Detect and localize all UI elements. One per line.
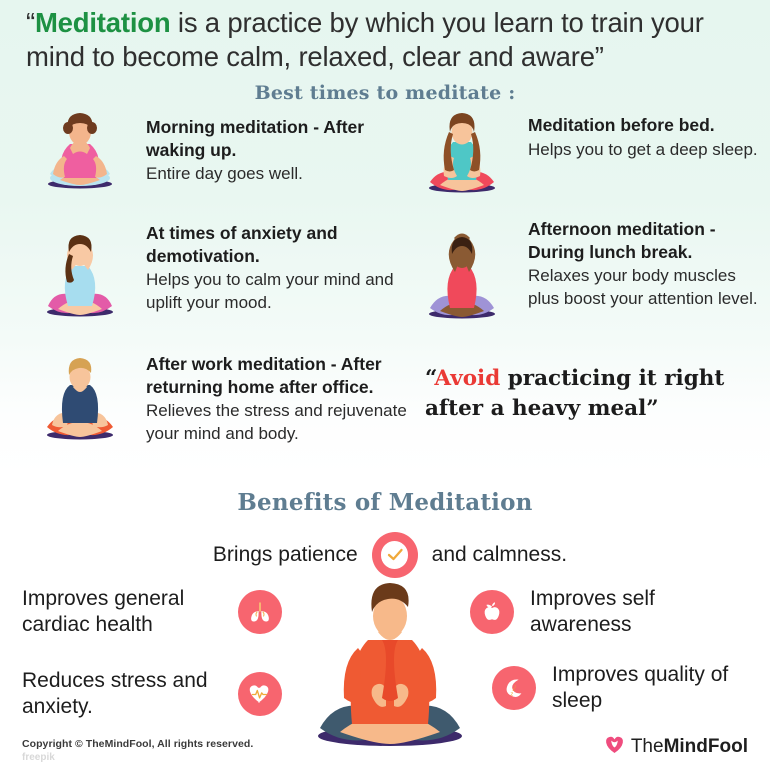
benefit-label: Improves general cardiac health bbox=[22, 586, 222, 638]
list-item: Reduces stress and anxiety. bbox=[22, 668, 322, 720]
list-item-title: After work meditation - After returning … bbox=[146, 353, 416, 398]
lungs-icon bbox=[238, 590, 282, 634]
list-item: z z z Improves quality of sleep bbox=[492, 662, 770, 714]
avoid-quote: “Avoid practicing it right after a heavy… bbox=[425, 364, 755, 424]
heart-pulse-icon bbox=[238, 672, 282, 716]
list-item-body: Entire day goes well. bbox=[146, 163, 398, 186]
man-blue-shirt-lotus-icon bbox=[30, 353, 130, 450]
freepik-watermark: freepik bbox=[22, 752, 55, 763]
benefit-label: Improves self awareness bbox=[530, 586, 730, 638]
woman-hands-above-head-icon bbox=[412, 214, 512, 331]
list-item-text: Morning meditation - After waking up. En… bbox=[146, 116, 398, 186]
check-circle-icon bbox=[372, 532, 418, 578]
brand-name-bold: MindFool bbox=[664, 736, 748, 757]
infographic-poster: “Meditation is a practice by which you l… bbox=[0, 0, 770, 770]
avoid-highlight: Avoid bbox=[434, 366, 500, 391]
headline-open-quote: “ bbox=[26, 7, 35, 38]
list-item-text: After work meditation - After returning … bbox=[146, 353, 416, 445]
svg-text:z: z bbox=[510, 691, 513, 697]
page-title: “Meditation is a practice by which you l… bbox=[26, 6, 752, 74]
list-item: Improves self awareness bbox=[470, 586, 770, 638]
list-item-title: Meditation before bed. bbox=[528, 114, 768, 137]
apple-icon bbox=[470, 590, 514, 634]
benefit-text-after: and calmness. bbox=[432, 542, 567, 568]
list-item-title: At times of anxiety and demotivation. bbox=[146, 222, 404, 267]
list-item-title: Afternoon meditation - During lunch brea… bbox=[528, 218, 764, 263]
section-title-benefits: Benefits of Meditation bbox=[0, 489, 770, 516]
benefit-label: Reduces stress and anxiety. bbox=[22, 668, 222, 720]
copyright-text: Copyright © TheMindFool, All rights rese… bbox=[22, 738, 253, 750]
list-item: Brings patience and calmness. bbox=[180, 532, 600, 578]
headline-close-quote: ” bbox=[595, 41, 604, 72]
moon-sleep-icon: z z z bbox=[492, 666, 536, 710]
woman-long-hair-lotus-icon bbox=[412, 108, 512, 203]
section-subtitle-best-times: Best times to meditate : bbox=[0, 82, 770, 104]
tulip-heart-logo-icon bbox=[604, 734, 625, 760]
list-item-text: At times of anxiety and demotivation. He… bbox=[146, 222, 404, 314]
list-item-body: Helps you to get a deep sleep. bbox=[528, 139, 768, 162]
list-item: Improves general cardiac health bbox=[22, 586, 322, 638]
brand-name: TheMindFool bbox=[631, 736, 748, 758]
list-item-body: Relieves the stress and rejuvenate your … bbox=[146, 400, 416, 445]
woman-lotus-pink-top-icon bbox=[30, 108, 130, 199]
list-item-body: Helps you to calm your mind and uplift y… bbox=[146, 269, 404, 314]
list-item-body: Relaxes your body muscles plus boost you… bbox=[528, 265, 764, 310]
avoid-close-quote: ” bbox=[646, 396, 658, 421]
headline-highlight: Meditation bbox=[35, 7, 171, 38]
benefit-label: Improves quality of sleep bbox=[552, 662, 752, 714]
list-item-text: Afternoon meditation - During lunch brea… bbox=[528, 218, 764, 310]
list-item-title: Morning meditation - After waking up. bbox=[146, 116, 398, 161]
brand-name-light: The bbox=[631, 736, 664, 757]
woman-arms-overhead-icon bbox=[30, 214, 130, 327]
list-item-text: Meditation before bed. Helps you to get … bbox=[528, 114, 768, 161]
avoid-open-quote: “ bbox=[425, 366, 434, 391]
brand-logo[interactable]: TheMindFool bbox=[604, 734, 748, 760]
benefit-text-before: Brings patience bbox=[213, 542, 358, 568]
